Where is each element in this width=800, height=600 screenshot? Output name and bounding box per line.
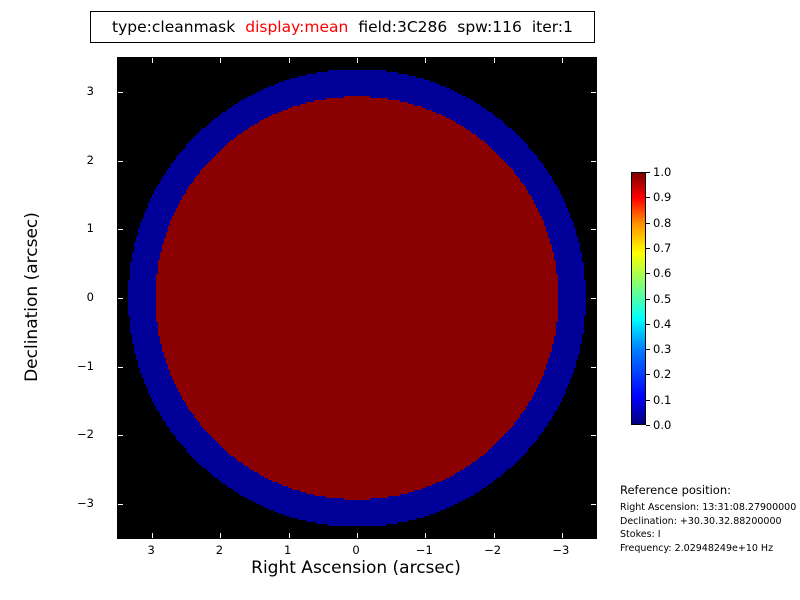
x-tick-mark [562,533,563,538]
colorbar-tick-label: 0.8 [653,216,671,230]
colorbar-tick-label: 0.1 [653,393,671,407]
x-tick-label: −2 [484,543,501,557]
colorbar-tick-label: 1.0 [653,165,671,179]
reference-position-ra: Right Ascension: 13:31:08.27900000 [620,501,800,515]
x-tick-mark [425,533,426,538]
title-segment-type: type:cleanmask [107,18,240,36]
reference-position-frequency: Frequency: 2.02948249e+10 Hz [620,542,800,556]
x-tick-label: 2 [216,543,223,557]
y-tick-label: 2 [87,153,94,167]
y-tick-mark [591,435,596,436]
y-tick-mark [118,504,123,505]
colorbar-tick-mark [646,197,650,198]
y-tick-mark [591,504,596,505]
x-tick-mark [494,58,495,63]
x-tick-mark [357,58,358,63]
colorbar-tick-mark [646,349,650,350]
x-tick-label: 0 [352,543,359,557]
x-tick-mark [220,533,221,538]
reference-position-heading: Reference position: [620,483,800,497]
colorbar-tick-mark [646,273,650,274]
colorbar-tick-mark [646,374,650,375]
y-tick-mark [118,161,123,162]
y-axis-title-wrap: Declination (arcsec) [22,57,42,537]
x-tick-mark [494,533,495,538]
colorbar-tick-mark [646,299,650,300]
colorbar-tick-label: 0.9 [653,190,671,204]
title-segment-spw: spw:116 [452,18,527,36]
colorbar-gradient [631,172,646,425]
colorbar-tick-mark [646,324,650,325]
colorbar-tick-mark [646,248,650,249]
colorbar-tick-mark [646,172,650,173]
y-tick-label: 0 [87,290,94,304]
reference-position-stokes: Stokes: I [620,528,800,542]
y-tick-label: −3 [77,496,94,510]
x-tick-mark [220,58,221,63]
title-segment-display: display:mean [240,18,353,36]
x-tick-mark [289,533,290,538]
x-tick-label: 1 [284,543,291,557]
colorbar-tick-label: 0.3 [653,342,671,356]
viewer-title-bar: type:cleanmask display:mean field:3C286 … [90,11,595,43]
y-tick-mark [591,229,596,230]
image-plot-area[interactable] [117,57,597,539]
title-segment-iter: iter:1 [527,18,578,36]
colorbar-tick-label: 0.0 [653,418,671,432]
y-tick-mark [118,298,123,299]
x-tick-mark [562,58,563,63]
title-segment-field: field:3C286 [353,18,452,36]
x-tick-mark [425,58,426,63]
y-tick-mark [591,367,596,368]
x-tick-mark [152,533,153,538]
colorbar-tick-label: 0.6 [653,266,671,280]
colorbar-tick-mark [646,425,650,426]
y-axis-title: Declination (arcsec) [22,212,42,382]
y-tick-mark [118,229,123,230]
colorbar-tick-mark [646,223,650,224]
reference-position-dec: Declination: +30.30.32.88200000 [620,515,800,529]
x-axis-title: Right Ascension (arcsec) [117,558,595,578]
y-tick-mark [118,435,123,436]
x-tick-mark [289,58,290,63]
colorbar-tick-label: 0.4 [653,317,671,331]
colorbar-tick-label: 0.7 [653,241,671,255]
x-tick-label: 3 [147,543,154,557]
y-tick-label: 3 [87,84,94,98]
y-tick-mark [591,161,596,162]
y-tick-label: −1 [77,359,94,373]
y-tick-label: 1 [87,221,94,235]
colorbar-tick-label: 0.5 [653,292,671,306]
colorbar-tick-mark [646,400,650,401]
cleanmask-raster[interactable] [118,58,596,538]
x-tick-label: −3 [552,543,569,557]
colorbar-tick-label: 0.2 [653,367,671,381]
x-tick-mark [152,58,153,63]
y-tick-label: −2 [77,427,94,441]
colorbar[interactable]: 1.00.90.80.70.60.50.40.30.20.10.0 [631,172,646,425]
y-tick-mark [591,92,596,93]
reference-position-block: Reference position: Right Ascension: 13:… [620,483,800,555]
y-tick-mark [118,92,123,93]
y-tick-mark [591,298,596,299]
x-tick-label: −1 [416,543,433,557]
x-tick-mark [357,533,358,538]
y-tick-mark [118,367,123,368]
